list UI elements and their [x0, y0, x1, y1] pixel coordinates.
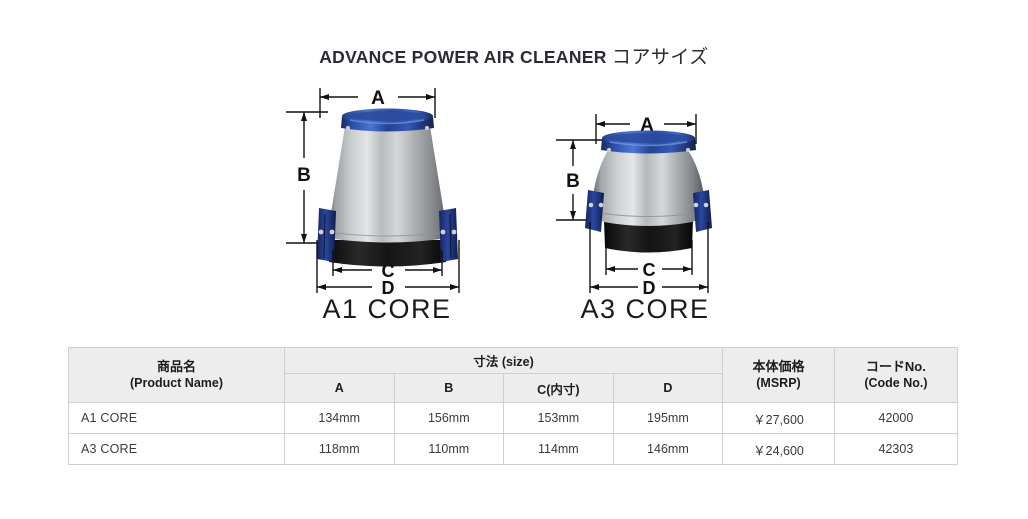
dimension-c-arrow-right — [433, 267, 442, 273]
cell-dim-a: 134mm — [284, 403, 394, 434]
cell-code: 42303 — [834, 434, 957, 465]
cell-dim-b: 110mm — [394, 434, 504, 465]
product-diagrams: A B — [0, 80, 1028, 335]
page-title-japanese: コアサイズ — [612, 47, 709, 68]
header-price-jp: 本体価格 — [723, 358, 834, 376]
header-code-en: (Code No.) — [835, 375, 957, 392]
a1-core-illustration: A B — [272, 80, 502, 330]
a1-metal-body — [327, 120, 448, 243]
dimension-a-arrow-left — [320, 94, 329, 100]
dimension-c-arrow-left — [333, 267, 342, 273]
header-dim-a: A — [284, 374, 394, 403]
spec-table-body: A1 CORE 134mm 156mm 153mm 195mm ￥27,600 … — [69, 403, 958, 465]
cell-dim-d: 146mm — [613, 434, 723, 465]
cell-price: ￥27,600 — [723, 403, 835, 434]
page-title-latin: ADVANCE POWER AIR CLEANER — [319, 47, 607, 67]
dimension-a-label: A — [371, 88, 385, 109]
dimension-d-arrow-left — [317, 284, 326, 290]
figure-a1-caption: A1 CORE — [272, 294, 502, 325]
header-dim-c: C(内寸) — [504, 374, 614, 403]
a3-ring-bolt-left — [607, 148, 611, 152]
dimension-a-arrow-right — [426, 94, 435, 100]
cell-dim-d: 195mm — [613, 403, 723, 434]
a3-bracket-bolt-left — [589, 203, 594, 208]
dimension-c-arrow-right — [683, 266, 692, 272]
figure-a3-caption: A3 CORE — [540, 294, 750, 325]
header-price: 本体価格 (MSRP) — [723, 348, 835, 403]
cell-price: ￥24,600 — [723, 434, 835, 465]
figure-a1-core: A B — [272, 80, 502, 330]
a3-bracket-right — [693, 190, 712, 232]
a3-ring-bolt-right — [686, 148, 690, 152]
dimension-b-arrow-top — [301, 112, 307, 121]
dimension-b-arrow-top — [570, 140, 576, 149]
dimension-c-arrow-left — [606, 266, 615, 272]
dimension-c-label: C — [643, 260, 656, 280]
header-product-name-jp: 商品名 — [69, 358, 284, 376]
header-code-jp: コードNo. — [835, 358, 957, 376]
header-price-en: (MSRP) — [723, 375, 834, 392]
dimension-a-arrow-left — [596, 121, 605, 127]
header-product-name: 商品名 (Product Name) — [69, 348, 285, 403]
dimension-a-arrow-right — [687, 121, 696, 127]
figure-a3-core: A B — [540, 108, 750, 330]
table-row: A1 CORE 134mm 156mm 153mm 195mm ￥27,600 … — [69, 403, 958, 434]
table-row: A3 CORE 118mm 110mm 114mm 146mm ￥24,600 … — [69, 434, 958, 465]
cell-product: A3 CORE — [69, 434, 285, 465]
a1-bracket-bolt-left — [319, 230, 324, 235]
dimension-d-arrow-right — [450, 284, 459, 290]
dimension-b-arrow-bottom — [570, 211, 576, 220]
a3-bracket-left — [585, 190, 604, 232]
page-title: ADVANCE POWER AIR CLEANER コアサイズ — [0, 42, 1028, 69]
header-product-name-en: (Product Name) — [69, 375, 284, 392]
a3-bracket-bolt-left-2 — [599, 203, 604, 208]
spec-table: 商品名 (Product Name) 寸法 (size) 本体価格 (MSRP)… — [68, 347, 958, 465]
header-dim-d: D — [613, 374, 723, 403]
cell-product: A1 CORE — [69, 403, 285, 434]
cell-dim-a: 118mm — [284, 434, 394, 465]
header-dimensions-group: 寸法 (size) — [284, 348, 722, 374]
a1-ring-bolt-left — [346, 126, 350, 130]
a1-top-ring-inner — [350, 111, 426, 121]
a1-bracket-bolt-left-2 — [330, 230, 335, 235]
cell-code: 42000 — [834, 403, 957, 434]
dimension-d-arrow-right — [699, 284, 708, 290]
header-code: コードNo. (Code No.) — [834, 348, 957, 403]
header-dim-b: B — [394, 374, 504, 403]
cell-dim-b: 156mm — [394, 403, 504, 434]
a1-bracket-bolt-right — [441, 230, 446, 235]
a3-top-ring-inner — [610, 133, 688, 143]
header-row-top: 商品名 (Product Name) 寸法 (size) 本体価格 (MSRP)… — [69, 348, 958, 374]
a1-ring-bolt-right — [425, 126, 429, 130]
a3-bracket-bolt-right — [694, 203, 699, 208]
cell-dim-c: 153mm — [504, 403, 614, 434]
a1-bracket-bolt-right-2 — [452, 230, 457, 235]
dimension-b-label: B — [297, 165, 311, 186]
dimension-d-arrow-left — [590, 284, 599, 290]
cell-dim-c: 114mm — [504, 434, 614, 465]
dimension-b-label: B — [566, 171, 580, 192]
dimension-b-arrow-bottom — [301, 234, 307, 243]
spec-table-head: 商品名 (Product Name) 寸法 (size) 本体価格 (MSRP)… — [69, 348, 958, 403]
a3-bracket-bolt-right-2 — [704, 203, 709, 208]
